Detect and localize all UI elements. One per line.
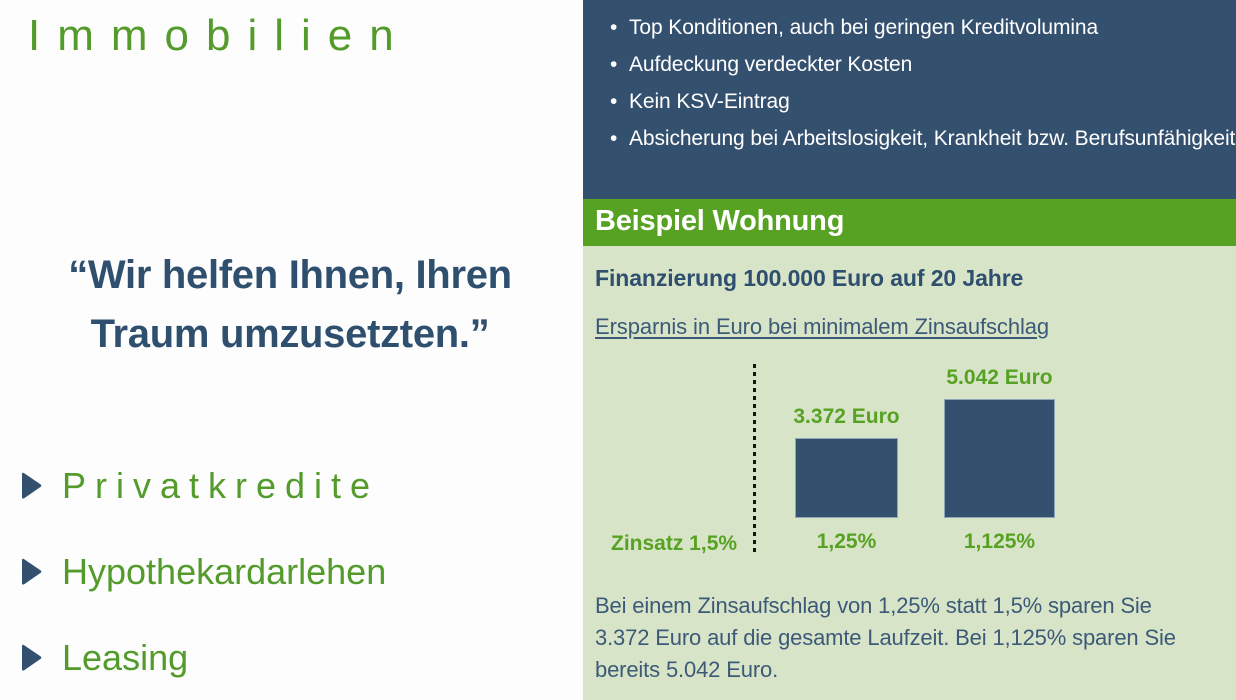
right-column: • Top Konditionen, auch bei geringen Kre… — [583, 0, 1236, 700]
page-title: Immobilien — [28, 8, 411, 63]
play-triangle-icon — [18, 643, 62, 673]
bullet-icon: • — [610, 83, 617, 120]
chart-bar-group: 5.042 Euro 1,125% — [944, 399, 1055, 518]
benefit-text: Absicherung bei Arbeitslosigkeit, Krankh… — [629, 127, 1235, 150]
chart-axis-label: 1,125% — [964, 530, 1035, 554]
chart-bar — [795, 438, 898, 518]
service-item-privatkredite[interactable]: Privatkredite — [0, 443, 560, 529]
example-header-label: Beispiel Wohnung — [595, 205, 844, 238]
service-label: Hypothekardarlehen — [62, 554, 386, 590]
service-label: Leasing — [62, 640, 188, 676]
benefit-text: Aufdeckung verdeckter Kosten — [629, 53, 912, 76]
financing-line: Finanzierung 100.000 Euro auf 20 Jahre — [595, 265, 1023, 292]
service-item-leasing[interactable]: Leasing — [0, 615, 560, 700]
list-item: • Top Konditionen, auch bei geringen Kre… — [583, 9, 1236, 46]
summary-text: Bei einem Zinsaufschlag von 1,25% statt … — [595, 590, 1200, 686]
slide-root: Immobilien “Wir helfen Ihnen, Ihren Trau… — [0, 0, 1236, 700]
quote-text: “Wir helfen Ihnen, Ihren Traum umzusetzt… — [30, 246, 550, 364]
chart-bar-value-label: 5.042 Euro — [946, 366, 1052, 390]
service-list: Privatkredite Hypothekardarlehen Leasing — [0, 443, 560, 700]
list-item: • Kein KSV-Eintrag — [583, 83, 1236, 120]
savings-subtitle: Ersparnis in Euro bei minimalem Zinsaufs… — [595, 314, 1049, 340]
bullet-icon: • — [610, 120, 617, 157]
example-header-bar: Beispiel Wohnung — [583, 199, 1236, 246]
left-panel: Immobilien “Wir helfen Ihnen, Ihren Trau… — [0, 0, 583, 700]
service-item-hypothekardarlehen[interactable]: Hypothekardarlehen — [0, 529, 560, 615]
example-body-panel: Finanzierung 100.000 Euro auf 20 Jahre E… — [583, 246, 1236, 700]
bullet-icon: • — [610, 46, 617, 83]
list-item: • Aufdeckung verdeckter Kosten — [583, 46, 1236, 83]
chart-divider-dotted-line — [753, 364, 756, 554]
play-triangle-icon — [18, 557, 62, 587]
savings-bar-chart: Zinsatz 1,5% 3.372 Euro 1,25% 5.042 Euro… — [583, 356, 1236, 556]
chart-baseline-label: Zinsatz 1,5% — [611, 532, 737, 556]
bullet-icon: • — [610, 9, 617, 46]
chart-bar-value-label: 3.372 Euro — [793, 405, 899, 429]
benefits-list: • Top Konditionen, auch bei geringen Kre… — [583, 9, 1236, 157]
list-item: • Absicherung bei Arbeitslosigkeit, Kran… — [583, 120, 1236, 157]
chart-bar — [944, 399, 1055, 518]
benefit-text: Kein KSV-Eintrag — [629, 90, 790, 113]
benefit-text: Top Konditionen, auch bei geringen Kredi… — [629, 16, 1098, 39]
play-triangle-icon — [18, 471, 62, 501]
service-label: Privatkredite — [62, 468, 379, 504]
chart-bar-group: 3.372 Euro 1,25% — [795, 438, 898, 518]
benefits-panel: • Top Konditionen, auch bei geringen Kre… — [583, 0, 1236, 199]
chart-axis-label: 1,25% — [817, 530, 877, 554]
